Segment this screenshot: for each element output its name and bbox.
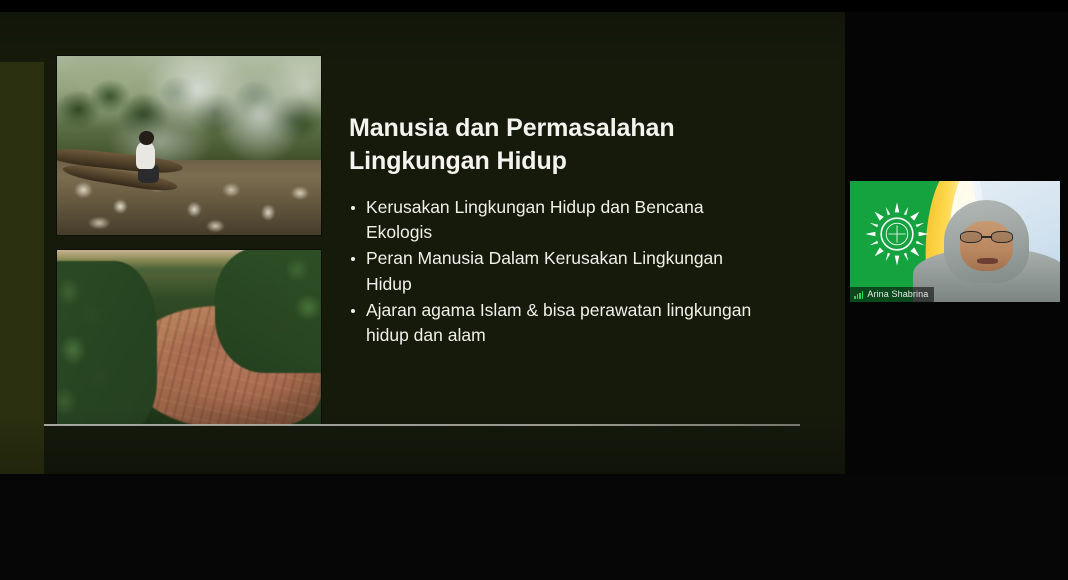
shared-slide: Manusia dan Permasalahan Lingkungan Hidu… [0, 12, 845, 474]
signal-bars-icon [854, 291, 863, 299]
slide-bullet-item: Ajaran agama Islam & bisa perawatan ling… [349, 298, 769, 348]
deforestation-scene [57, 250, 321, 425]
slide-title-line-2: Lingkungan Hidup [349, 145, 769, 178]
landfill-person-body [136, 142, 154, 169]
participant-name-bar: Arina Shabrina [850, 287, 934, 302]
participant-video-tile[interactable]: Arina Shabrina [850, 181, 1060, 302]
landfill-person-head [139, 131, 154, 145]
slide-title-line-1: Manusia dan Permasalahan [349, 112, 769, 145]
deforestation-forest-right [215, 250, 321, 373]
slide-bullet-list: Kerusakan Lingkungan Hidup dan Bencana E… [349, 195, 769, 349]
participant-mouth [977, 258, 998, 263]
participant-name-label: Arina Shabrina [867, 290, 928, 299]
slide-bullet-item: Peran Manusia Dalam Kerusakan Lingkungan… [349, 246, 769, 296]
participant-figure [921, 198, 1060, 302]
slide-bullet-item: Kerusakan Lingkungan Hidup dan Bencana E… [349, 195, 769, 245]
participant-glasses-icon [960, 231, 1013, 242]
slide-accent-panel [0, 62, 44, 477]
landfill-scene [57, 56, 321, 235]
slide-title: Manusia dan Permasalahan Lingkungan Hidu… [349, 112, 769, 179]
deforestation-forest-left [57, 261, 157, 426]
slide-divider-rule [44, 424, 800, 426]
letterbox-top [0, 0, 1068, 12]
photo-burning-landfill [57, 56, 321, 235]
screen-share-stage: Manusia dan Permasalahan Lingkungan Hidu… [0, 0, 1068, 580]
photo-deforestation-aerial [57, 250, 321, 425]
letterbox-bottom [0, 474, 1068, 580]
